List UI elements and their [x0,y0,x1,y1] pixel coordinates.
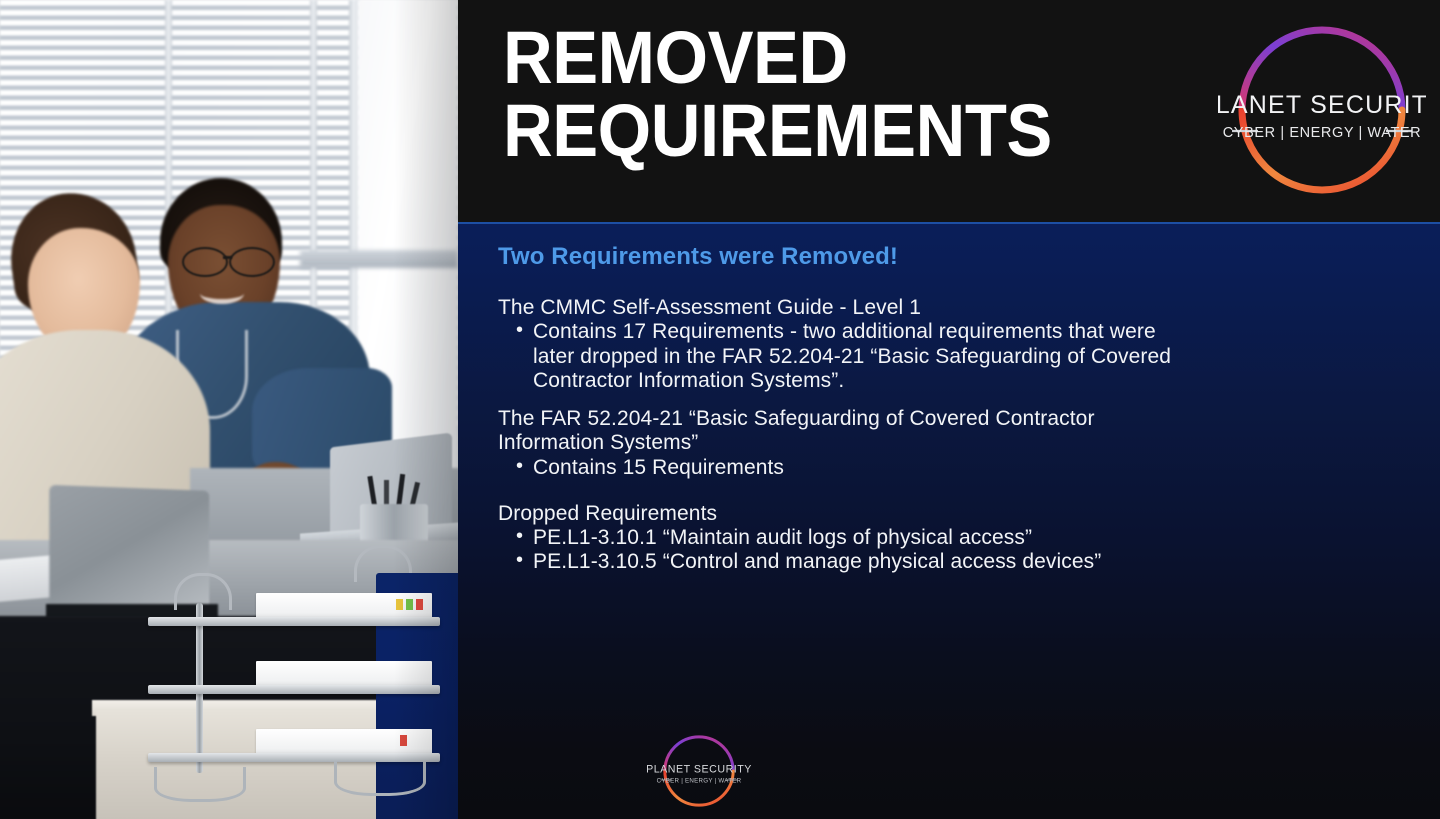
logo-icon: PLANET SECURITY CYBER | ENERGY | WATER [640,730,758,812]
section-block: Dropped Requirements PE.L1-3.10.1 “Maint… [498,502,1178,575]
section-heading: Dropped Requirements [498,502,1178,526]
planet-security-logo-footer: PLANET SECURITY CYBER | ENERGY | WATER [640,730,758,812]
section-block: The FAR 52.204-21 “Basic Safeguarding of… [498,407,1178,480]
logo-wordmark: PLANET SECURITY [646,763,752,775]
section-heading: The FAR 52.204-21 “Basic Safeguarding of… [498,407,1178,456]
photo-edge-shading [0,0,458,819]
planet-security-logo: PLANET SECURITY CYBER | ENERGY | WATER [1218,14,1426,206]
section-bullets: Contains 17 Requirements - two additiona… [498,320,1178,393]
accent-rule [458,222,1440,224]
photo-inner [0,0,458,819]
section-bullets: PE.L1-3.10.1 “Maintain audit logs of phy… [498,526,1178,575]
logo-icon: PLANET SECURITY CYBER | ENERGY | WATER [1218,14,1426,206]
page-title: REMOVED REQUIREMENTS [503,22,1173,167]
office-photo [0,0,458,819]
list-item: PE.L1-3.10.1 “Maintain audit logs of phy… [533,526,1178,550]
section-subheading: Two Requirements were Removed! [498,243,898,271]
logo-tagline: CYBER | ENERGY | WATER [1223,125,1422,141]
slide: REMOVED REQUIREMENTS PLANET SECURITY [0,0,1440,819]
list-item: Contains 15 Requirements [533,456,1178,480]
section-bullets: Contains 15 Requirements [498,456,1178,480]
spacer [498,480,1178,502]
list-item: Contains 17 Requirements - two additiona… [533,320,1178,393]
section-block: The CMMC Self-Assessment Guide - Level 1… [498,296,1178,393]
logo-wordmark: PLANET SECURITY [1218,91,1426,119]
section-heading: The CMMC Self-Assessment Guide - Level 1 [498,296,1178,320]
list-item: PE.L1-3.10.5 “Control and manage physica… [533,550,1178,574]
logo-tagline: CYBER | ENERGY | WATER [657,778,742,785]
body-content: The CMMC Self-Assessment Guide - Level 1… [498,296,1178,575]
